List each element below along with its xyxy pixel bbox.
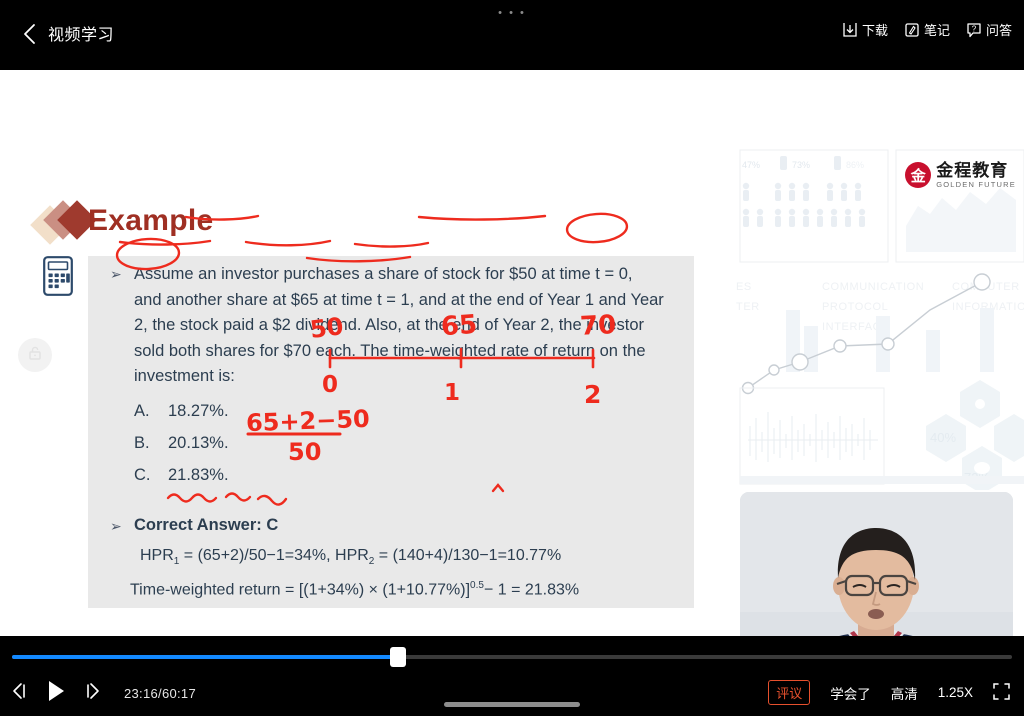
hpr-mid: = (65+2)/50−1=34%, HPR — [179, 547, 368, 564]
play-button[interactable] — [46, 680, 66, 707]
twr-exponent: 0.5 — [470, 580, 484, 591]
screen-lock-button[interactable] — [18, 338, 52, 372]
download-label: 下载 — [862, 20, 888, 39]
svg-text:COMMUNICATION: COMMUNICATION — [822, 281, 924, 293]
svg-text:PROTOCOL: PROTOCOL — [822, 301, 888, 313]
option-c-text: 21.83%. — [168, 459, 229, 491]
option-b[interactable]: B. 20.13%. — [134, 427, 229, 459]
twr-tail: − 1 = 21.83% — [484, 581, 579, 598]
hpr-formula: HPR1 = (65+2)/50−1=34%, HPR2 = (140+4)/1… — [140, 547, 561, 567]
brand-name-en: GOLDEN FUTURE — [936, 180, 1016, 189]
svg-text:40%: 40% — [930, 430, 956, 445]
page-title: 视频学习 — [48, 21, 114, 45]
top-bar-actions: 下载 笔记 ? 问答 — [842, 20, 1012, 39]
hpr-tail: = (140+4)/130−1=10.77% — [374, 547, 561, 564]
svg-text:86%: 86% — [846, 160, 864, 170]
option-c-letter: C. — [134, 459, 168, 491]
question-bubble-icon: ? — [966, 22, 982, 38]
option-a-letter: A. — [134, 395, 168, 427]
progress-bar[interactable] — [12, 655, 1012, 659]
option-b-text: 20.13%. — [168, 427, 229, 459]
calculator-icon — [43, 256, 73, 301]
option-c[interactable]: C. 21.83%. — [134, 459, 229, 491]
notes-button[interactable]: 笔记 — [904, 20, 950, 39]
annotation-time-2: 2 — [584, 380, 601, 409]
previous-icon — [10, 682, 28, 705]
download-button[interactable]: 下载 — [842, 20, 888, 39]
unlock-icon — [26, 344, 44, 367]
option-a[interactable]: A. 18.27%. — [134, 395, 229, 427]
fullscreen-icon — [993, 688, 1010, 703]
twr-formula: Time-weighted return = [(1+34%) × (1+10.… — [130, 580, 579, 599]
answer-bullet-marker: ➢ — [110, 518, 122, 535]
review-badge[interactable]: 评议 — [768, 680, 810, 705]
notes-label: 笔记 — [924, 20, 950, 39]
learned-button[interactable]: 学会了 — [830, 683, 871, 703]
slide-title: Example — [88, 204, 214, 238]
twr-lead: Time-weighted return = [(1+34%) × (1+10.… — [130, 581, 470, 598]
fullscreen-button[interactable] — [993, 683, 1010, 703]
brand-seal-icon: 金 — [905, 162, 931, 188]
annotation-fraction-numerator: 65+2−50 — [246, 405, 371, 437]
top-bar: • • • 视频学习 下载 — [0, 0, 1024, 70]
brand-name-cn: 金程教育 — [936, 162, 1016, 180]
note-pen-icon — [904, 22, 920, 38]
annotation-time-1: 1 — [444, 380, 460, 406]
infographic-background: 47% 73% 86% — [730, 140, 1024, 490]
progress-handle[interactable] — [390, 647, 406, 667]
svg-text:73%: 73% — [792, 160, 810, 170]
svg-text:47%: 47% — [742, 160, 760, 170]
annotation-value-70: 70 — [579, 310, 617, 342]
quality-button[interactable]: 高清 — [891, 683, 918, 703]
annotation-value-50: 50 — [308, 312, 345, 344]
answer-options: A. 18.27%. B. 20.13%. C. 21.83%. — [134, 395, 229, 491]
title-diamond-decoration — [36, 203, 94, 243]
play-icon — [46, 680, 66, 707]
hpr-lead: HPR — [140, 547, 174, 564]
instructor-webcam[interactable] — [740, 492, 1013, 636]
annotation-time-0: 0 — [322, 372, 338, 398]
previous-button[interactable] — [10, 682, 28, 705]
svg-text:TER: TER — [736, 301, 760, 313]
home-indicator — [444, 702, 580, 707]
annotation-value-65: 65 — [440, 310, 478, 342]
option-b-letter: B. — [134, 427, 168, 459]
playback-controls: 23:16/60:17 — [10, 680, 196, 707]
slide-stage[interactable]: Example ➢ Assum — [0, 70, 1024, 636]
next-icon — [84, 682, 102, 705]
right-side-panel: 47% 73% 86% — [730, 140, 1024, 636]
speed-button[interactable]: 1.25X — [938, 685, 973, 700]
progress-fill — [12, 655, 398, 659]
annotation-fraction-denominator: 50 — [288, 438, 321, 466]
video-player-screen: • • • 视频学习 下载 — [0, 0, 1024, 716]
svg-text:?: ? — [972, 24, 977, 33]
player-options: 评议 学会了 高清 1.25X — [768, 680, 1010, 705]
option-a-text: 18.27%. — [168, 395, 229, 427]
qa-button[interactable]: ? 问答 — [966, 20, 1012, 39]
download-icon — [842, 22, 858, 38]
brand-logo: 金 金程教育 GOLDEN FUTURE — [905, 162, 1016, 189]
player-control-bar: 23:16/60:17 评议 学会了 高清 1.25X — [0, 636, 1024, 716]
correct-answer-label: Correct Answer: C — [134, 516, 278, 535]
chevron-left-icon — [23, 23, 37, 45]
time-display: 23:16/60:17 — [124, 686, 196, 701]
next-button[interactable] — [84, 682, 102, 705]
svg-text:ES: ES — [736, 281, 752, 293]
qa-label: 问答 — [986, 20, 1012, 39]
back-button[interactable] — [14, 18, 46, 50]
question-bullet-marker: ➢ — [110, 266, 122, 283]
status-dots: • • • — [498, 8, 526, 19]
